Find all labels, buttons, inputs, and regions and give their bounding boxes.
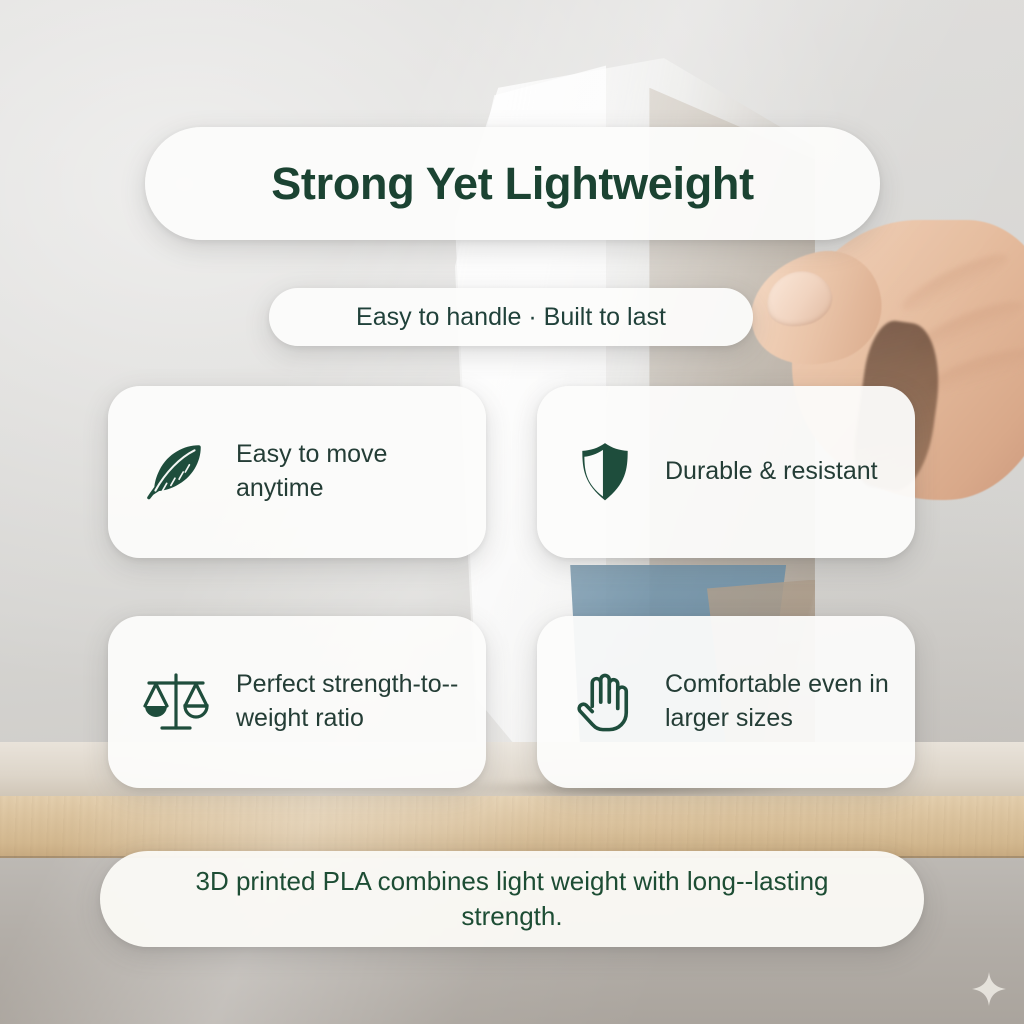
footer-pill: 3D printed PLA combines light weight wit… — [100, 851, 924, 947]
feature-card-easy-to-move[interactable]: Easy to move anytime — [108, 386, 486, 558]
title-pill: Strong Yet Lightweight — [145, 127, 880, 240]
subtitle-pill: Easy to handle · Built to last — [269, 288, 753, 346]
poster-canvas: Strong Yet Lightweight Easy to handle · … — [0, 0, 1024, 1024]
balance-scale-icon — [138, 664, 214, 740]
feature-card-label: Comfortable even in larger sizes — [665, 668, 889, 736]
feature-card-label: Durable & resistant — [665, 455, 878, 489]
page-title: Strong Yet Lightweight — [271, 158, 754, 210]
feature-card-label: Perfect strength-to--weight ratio — [236, 668, 460, 736]
shield-icon — [567, 434, 643, 510]
feature-card-strength-to-weight[interactable]: Perfect strength-to--weight ratio — [108, 616, 486, 788]
feather-icon — [138, 434, 214, 510]
page-subtitle: Easy to handle · Built to last — [356, 303, 666, 332]
open-hand-icon — [567, 664, 643, 740]
footer-caption: 3D printed PLA combines light weight wit… — [170, 864, 854, 934]
feature-card-durable[interactable]: Durable & resistant — [537, 386, 915, 558]
overlay-ui: Strong Yet Lightweight Easy to handle · … — [0, 0, 1024, 1024]
feature-card-label: Easy to move anytime — [236, 438, 460, 506]
feature-card-comfortable[interactable]: Comfortable even in larger sizes — [537, 616, 915, 788]
sparkle-icon — [972, 972, 1006, 1006]
